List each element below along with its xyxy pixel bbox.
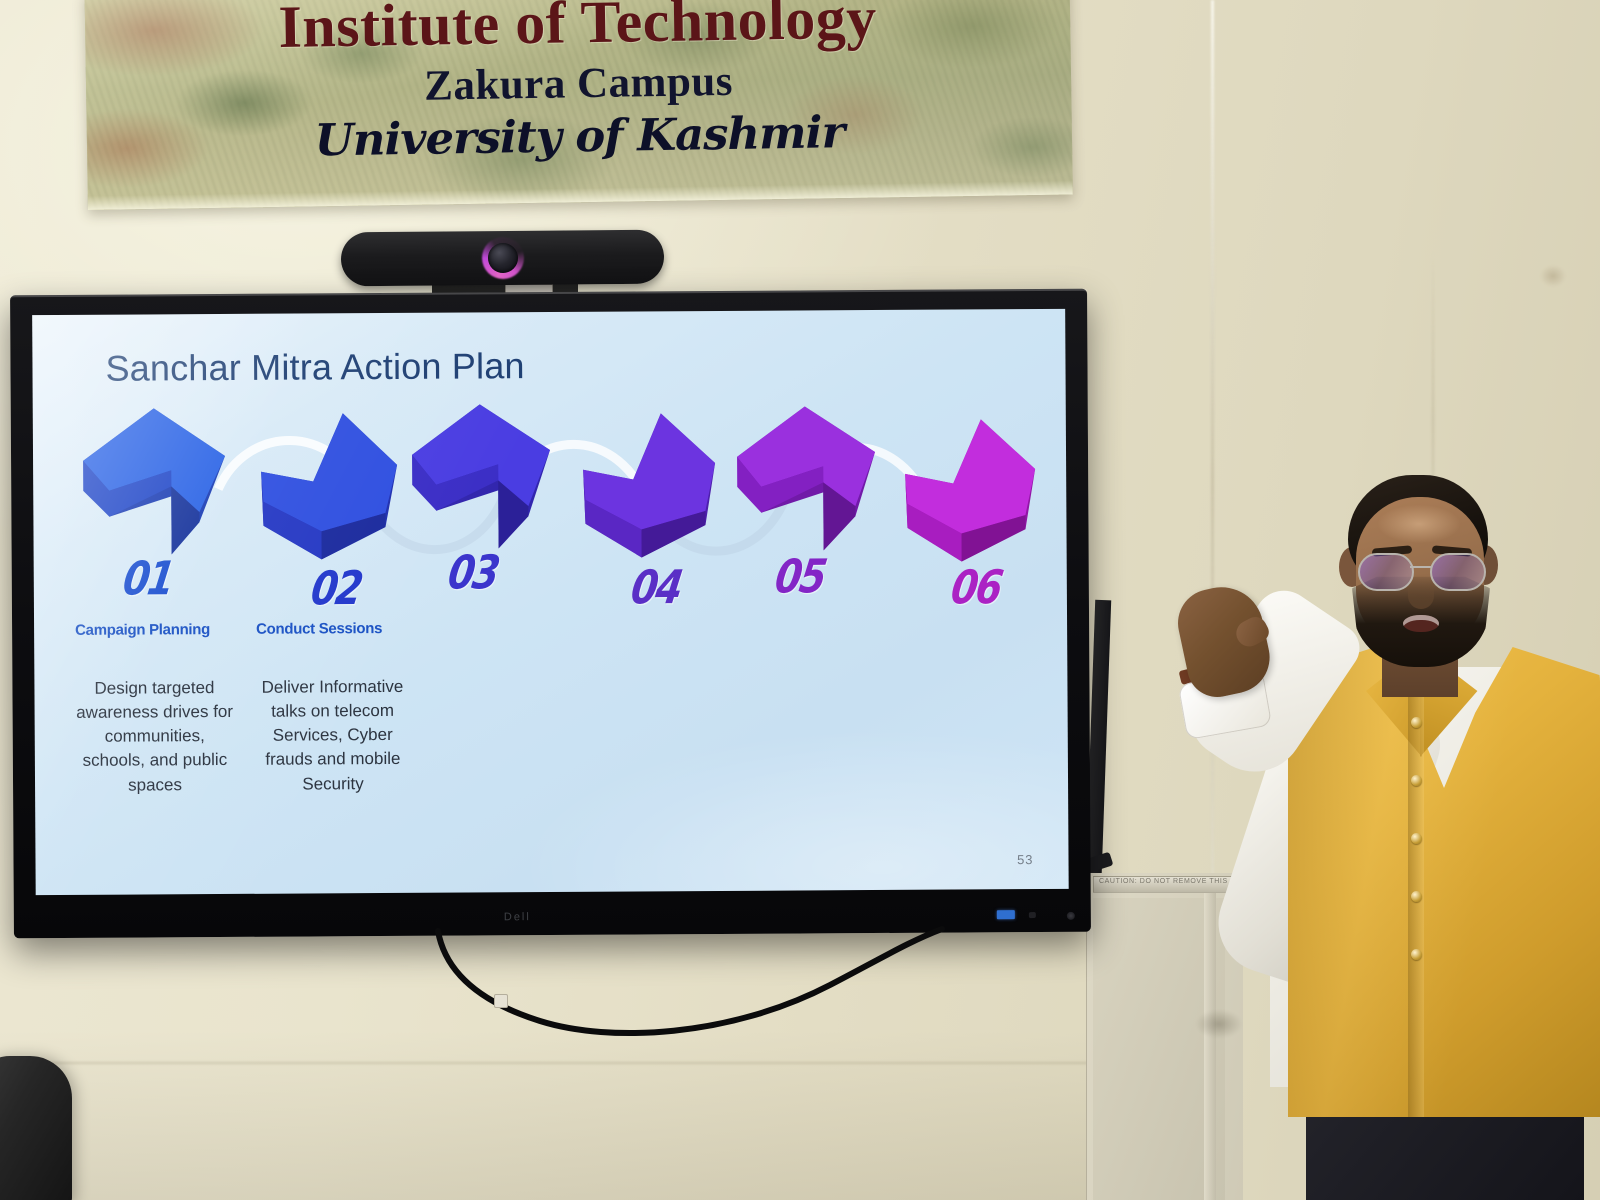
wall-display[interactable]: Sanchar Mitra Action Plan bbox=[10, 289, 1091, 939]
step-03-description bbox=[404, 668, 564, 669]
step-02-shape bbox=[251, 409, 402, 562]
video-conference-camera-bar[interactable] bbox=[341, 230, 664, 287]
presenter-vest-button bbox=[1411, 833, 1422, 844]
step-04-shape bbox=[573, 409, 724, 562]
step-05-number: 05 bbox=[772, 549, 829, 603]
glasses-lens-right bbox=[1430, 553, 1486, 591]
display-power-led bbox=[1067, 912, 1075, 920]
wall-floor-shadow bbox=[0, 1030, 1200, 1200]
institute-banner: Institute of Technology Zakura Campus Un… bbox=[85, 0, 1073, 210]
display-power-cable bbox=[430, 925, 950, 1045]
display-logo-badge bbox=[997, 910, 1015, 919]
step-04-description bbox=[574, 677, 734, 678]
presenter-glasses bbox=[1356, 551, 1486, 591]
step-06-shape bbox=[895, 415, 1046, 568]
chair-back bbox=[0, 1056, 72, 1200]
step-03-number: 03 bbox=[445, 545, 502, 599]
step-03-shape bbox=[408, 400, 559, 553]
step-06-description bbox=[896, 681, 1056, 682]
step-04-number: 04 bbox=[628, 560, 685, 614]
camera-lens-icon bbox=[487, 243, 517, 273]
step-05-shape bbox=[733, 402, 884, 555]
cable-clip bbox=[494, 994, 508, 1008]
step-05-description bbox=[729, 670, 889, 671]
presenter-vest-button bbox=[1411, 949, 1422, 960]
glasses-bridge bbox=[1410, 566, 1432, 568]
step-01-shape bbox=[79, 404, 230, 557]
display-ir-sensor-icon bbox=[1029, 912, 1036, 918]
step-02-description: Deliver Informative talks on telecom Ser… bbox=[252, 675, 413, 797]
presentation-slide: Sanchar Mitra Action Plan bbox=[32, 309, 1069, 895]
wall-smudge bbox=[1540, 265, 1566, 287]
presenter-vest-button bbox=[1411, 775, 1422, 786]
display-brand-label: Dell bbox=[504, 911, 531, 923]
step-02-number: 02 bbox=[308, 561, 365, 615]
conference-room-photo: Institute of Technology Zakura Campus Un… bbox=[0, 0, 1600, 1200]
presenter-mouth bbox=[1403, 615, 1439, 632]
wall-seam-line bbox=[0, 1062, 1210, 1064]
presenter-forehead-highlight bbox=[1378, 505, 1460, 543]
step-02-label: Conduct Sessions bbox=[256, 620, 382, 638]
presenter bbox=[1120, 455, 1600, 1200]
slide-page-number: 53 bbox=[1017, 852, 1034, 867]
step-01-description: Design targeted awareness drives for com… bbox=[74, 676, 235, 798]
step-01-label: Campaign Planning bbox=[75, 621, 210, 639]
presenter-vest-button bbox=[1411, 717, 1422, 728]
display-screen[interactable]: Sanchar Mitra Action Plan bbox=[32, 309, 1069, 895]
steps-container: 01 Campaign Planning Design targeted awa… bbox=[32, 309, 1069, 895]
glasses-lens-left bbox=[1358, 553, 1414, 591]
presenter-vest-button bbox=[1411, 891, 1422, 902]
step-06-number: 06 bbox=[948, 560, 1005, 614]
step-01-number: 01 bbox=[120, 551, 177, 605]
